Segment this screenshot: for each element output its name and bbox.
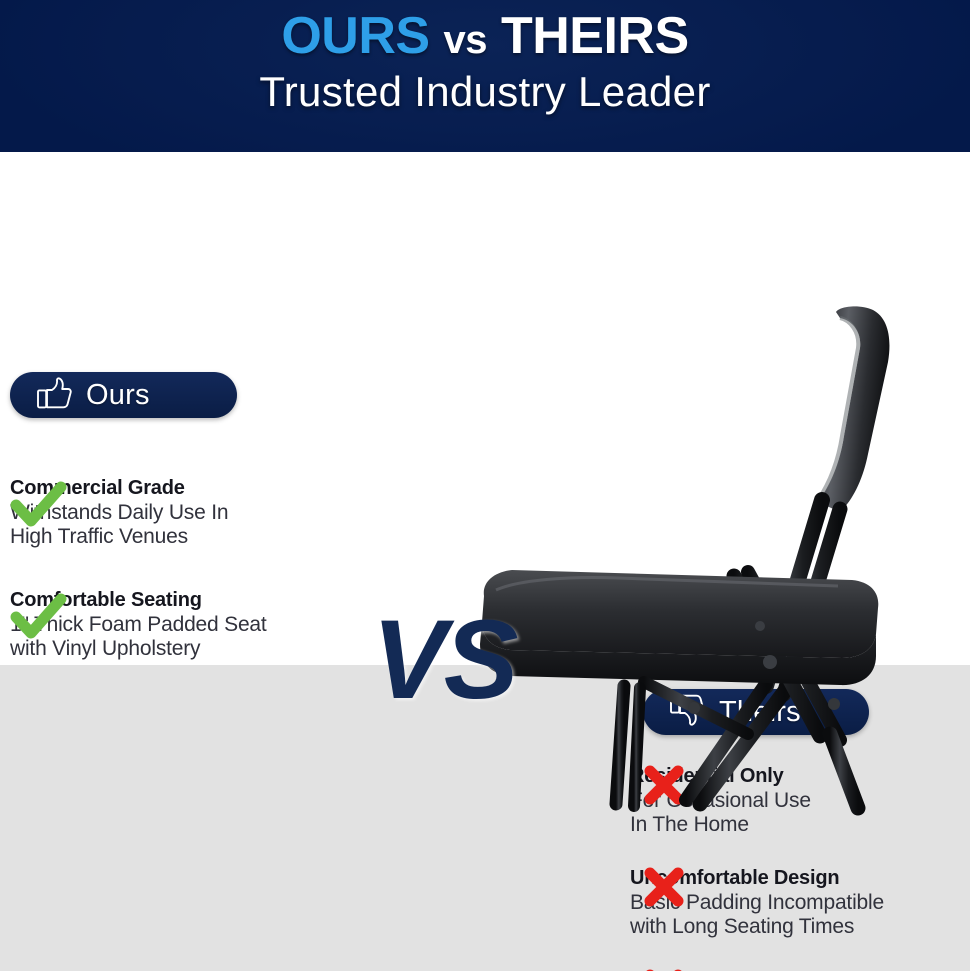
page-title: OURS vs THEIRS: [0, 6, 970, 70]
title-theirs: THEIRS: [501, 7, 689, 65]
cross-icon: [638, 865, 690, 909]
title-vs: vs: [444, 18, 488, 62]
title-ours: OURS: [281, 7, 429, 65]
cross-icon: [638, 967, 690, 971]
check-icon: [10, 593, 68, 641]
ours-panel: Ours Commercial Grade Withstands Daily U…: [0, 152, 970, 665]
header-banner: OURS vs THEIRS Trusted Industry Leader: [0, 0, 970, 152]
page-subtitle: Trusted Industry Leader: [0, 66, 970, 118]
list-item: Commercial Grade Withstands Daily Use In…: [10, 457, 370, 549]
ours-badge: Ours: [10, 372, 237, 418]
vs-divider-label: VS: [372, 600, 515, 720]
thumbs-up-icon: [36, 377, 72, 414]
list-item: Comfortable Seating 1" Thick Foam Padded…: [10, 569, 370, 661]
ours-badge-label: Ours: [86, 380, 150, 410]
list-item: Non-Folding Design Single Bracing with N…: [630, 949, 970, 971]
list-item: Uncomfortable Design Basic Padding Incom…: [630, 847, 970, 939]
black-folding-chair-image: [448, 304, 970, 817]
comparison-infographic: OURS vs THEIRS Trusted Industry Leader: [0, 0, 970, 971]
check-icon: [10, 481, 68, 529]
